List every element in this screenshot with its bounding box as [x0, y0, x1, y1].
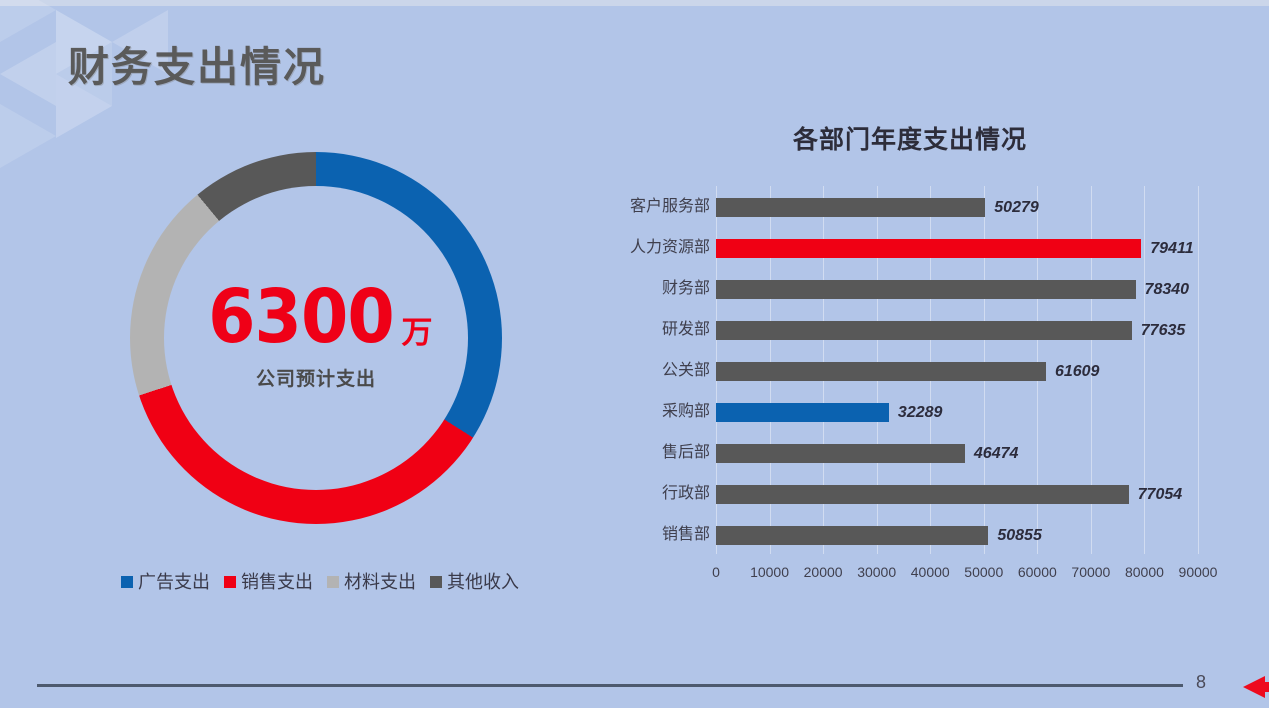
triangle-shape — [0, 42, 56, 106]
legend-item[interactable]: 其他收入 — [430, 568, 519, 594]
donut-chart: 6300万 公司预计支出 — [130, 152, 502, 524]
bar-track: 79411 — [716, 229, 1198, 267]
bar-category-label: 采购部 — [610, 393, 710, 431]
triangle-shape — [0, 104, 56, 168]
bar-row[interactable]: 采购部32289 — [610, 393, 1210, 431]
legend-item[interactable]: 销售支出 — [224, 568, 313, 594]
donut-center-unit: 万 — [401, 307, 432, 352]
bar-plot-area: 客户服务部50279人力资源部79411财务部78340研发部77635公关部6… — [610, 186, 1210, 560]
x-axis-tick-label: 70000 — [1071, 564, 1110, 580]
bar-category-label: 客户服务部 — [610, 188, 710, 226]
bar-chart-title: 各部门年度支出情况 — [610, 120, 1210, 156]
slide: 财务支出情况 6300万 公司预计支出 广告支出销售支出材料支出其他收入 各部门… — [0, 0, 1269, 708]
bar-category-label: 销售部 — [610, 516, 710, 554]
bar-value-label: 77635 — [1141, 321, 1186, 340]
donut-center-label: 公司预计支出 — [130, 364, 502, 391]
arrow-tail-shape — [1262, 682, 1269, 692]
triangle-shape — [0, 0, 56, 42]
page-number: 8 — [1196, 672, 1206, 693]
legend-item[interactable]: 材料支出 — [327, 568, 416, 594]
x-axis-tick-label: 20000 — [804, 564, 843, 580]
bar-track: 32289 — [716, 393, 1198, 431]
x-axis-tick-label: 10000 — [750, 564, 789, 580]
bar-fill[interactable] — [716, 198, 985, 217]
bar-value-label: 50855 — [997, 526, 1042, 545]
bar-value-label: 50279 — [994, 198, 1039, 217]
bar-value-label: 78340 — [1145, 280, 1190, 299]
bar-row[interactable]: 客户服务部50279 — [610, 188, 1210, 226]
bar-track: 61609 — [716, 352, 1198, 390]
top-accent-strip — [0, 0, 1269, 6]
bar-fill[interactable] — [716, 485, 1129, 504]
legend-swatch-icon — [224, 576, 236, 588]
bar-row[interactable]: 公关部61609 — [610, 352, 1210, 390]
bar-value-label: 46474 — [974, 444, 1019, 463]
bar-track: 46474 — [716, 434, 1198, 472]
bar-category-label: 公关部 — [610, 352, 710, 390]
legend-item[interactable]: 广告支出 — [121, 568, 210, 594]
legend-item-label: 材料支出 — [344, 572, 416, 592]
bar-track: 50855 — [716, 516, 1198, 554]
bar-track: 77635 — [716, 311, 1198, 349]
bar-category-label: 人力资源部 — [610, 229, 710, 267]
bar-track: 77054 — [716, 475, 1198, 513]
x-axis-tick-label: 40000 — [911, 564, 950, 580]
legend-item-label: 销售支出 — [241, 572, 313, 592]
bar-category-label: 研发部 — [610, 311, 710, 349]
bar-row[interactable]: 人力资源部79411 — [610, 229, 1210, 267]
bar-value-label: 79411 — [1150, 239, 1193, 258]
x-axis-tick-label: 80000 — [1125, 564, 1164, 580]
legend-swatch-icon — [121, 576, 133, 588]
donut-legend: 广告支出销售支出材料支出其他收入 — [110, 568, 530, 594]
bar-row[interactable]: 财务部78340 — [610, 270, 1210, 308]
legend-item-label: 其他收入 — [447, 572, 519, 592]
bar-category-label: 财务部 — [610, 270, 710, 308]
bar-row[interactable]: 行政部77054 — [610, 475, 1210, 513]
legend-swatch-icon — [430, 576, 442, 588]
bar-track: 78340 — [716, 270, 1198, 308]
bar-row[interactable]: 销售部50855 — [610, 516, 1210, 554]
page-title: 财务支出情况 — [68, 33, 326, 93]
legend-item-label: 广告支出 — [138, 572, 210, 592]
footer-divider — [37, 684, 1183, 687]
x-axis-tick-label: 60000 — [1018, 564, 1057, 580]
bar-fill[interactable] — [716, 444, 965, 463]
x-axis-ticks: 0100002000030000400005000060000700008000… — [610, 564, 1210, 588]
x-axis-tick-label: 30000 — [857, 564, 896, 580]
bar-row[interactable]: 售后部46474 — [610, 434, 1210, 472]
bar-fill[interactable] — [716, 280, 1136, 299]
bar-value-label: 61609 — [1055, 362, 1100, 381]
donut-center-value: 6300 — [208, 282, 394, 352]
bar-fill[interactable] — [716, 526, 988, 545]
bar-fill[interactable] — [716, 239, 1141, 258]
bar-row[interactable]: 研发部77635 — [610, 311, 1210, 349]
bar-fill[interactable] — [716, 321, 1132, 340]
bar-value-label: 77054 — [1138, 485, 1183, 504]
bar-value-label: 32289 — [898, 403, 943, 422]
bar-category-label: 售后部 — [610, 434, 710, 472]
bar-track: 50279 — [716, 188, 1198, 226]
x-axis-tick-label: 0 — [712, 564, 720, 580]
x-axis-tick-label: 50000 — [964, 564, 1003, 580]
bar-fill[interactable] — [716, 403, 889, 422]
bar-fill[interactable] — [716, 362, 1046, 381]
bar-category-label: 行政部 — [610, 475, 710, 513]
legend-swatch-icon — [327, 576, 339, 588]
donut-center-text: 6300万 公司预计支出 — [130, 282, 502, 391]
x-axis-tick-label: 90000 — [1179, 564, 1218, 580]
bar-chart: 各部门年度支出情况 客户服务部50279人力资源部79411财务部78340研发… — [610, 120, 1210, 600]
